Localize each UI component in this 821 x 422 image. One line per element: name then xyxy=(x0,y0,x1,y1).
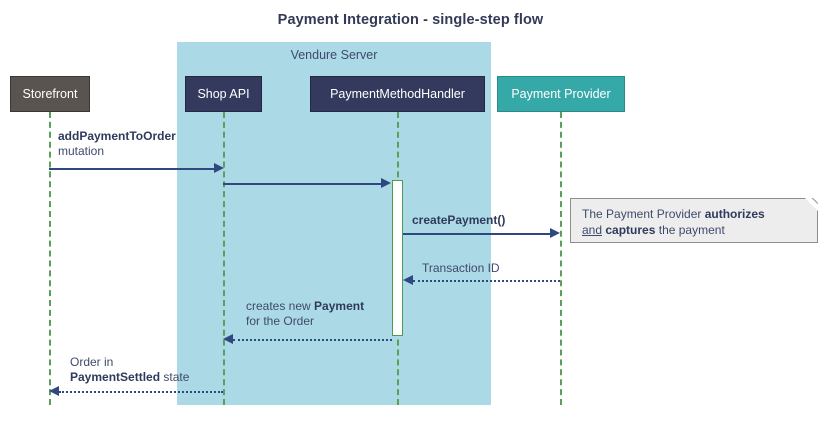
participant-shop-api-label: Shop API xyxy=(197,87,249,101)
lifeline-payment-provider xyxy=(560,112,562,405)
sequence-diagram-canvas: Payment Integration - single-step flow V… xyxy=(0,0,821,422)
message-label-create-payment-bold: createPayment() xyxy=(412,213,505,227)
arrow-shop-api-to-storefront xyxy=(59,391,223,393)
note-fold-edge-icon xyxy=(800,198,818,216)
activation-bar-handler xyxy=(392,180,403,336)
message-label-creates-bold: Payment xyxy=(314,299,364,313)
message-label-order-payment-settled: Order in PaymentSettled state xyxy=(70,355,189,384)
message-label-add-payment-to-order-sub: mutation xyxy=(58,144,104,158)
arrow-provider-to-handler xyxy=(413,280,560,282)
message-label-creates-new-payment: creates new Payment for the Order xyxy=(246,299,364,328)
arrow-head-provider-to-handler xyxy=(403,275,413,285)
arrow-head-shop-api-to-handler xyxy=(381,178,391,188)
page-title: Payment Integration - single-step flow xyxy=(0,12,821,28)
message-label-add-payment-to-order-bold: addPaymentToOrder xyxy=(58,129,176,143)
arrow-head-storefront-to-shop-api xyxy=(214,163,224,173)
arrow-handler-to-provider xyxy=(403,233,550,235)
participant-provider-label: Payment Provider xyxy=(511,87,610,101)
message-label-creates-sub: for the Order xyxy=(246,314,314,328)
participant-shop-api[interactable]: Shop API xyxy=(185,76,262,112)
message-label-order-in: Order in xyxy=(70,355,113,369)
message-label-creates-prefix: creates new xyxy=(246,299,314,313)
lifeline-storefront xyxy=(49,112,51,405)
note-text-bold-captures: captures xyxy=(605,223,655,237)
participant-storefront[interactable]: Storefront xyxy=(10,76,90,112)
participant-payment-provider[interactable]: Payment Provider xyxy=(497,76,625,112)
note-text-bold-authorizes: authorizes xyxy=(705,207,765,221)
message-label-create-payment: createPayment() xyxy=(412,213,505,228)
arrow-shop-api-to-handler xyxy=(223,183,387,185)
note-text-part1: The Payment Provider xyxy=(582,207,705,221)
arrow-head-shop-api-to-storefront xyxy=(49,386,59,396)
message-label-state-suffix: state xyxy=(160,370,189,384)
arrow-head-handler-to-provider xyxy=(550,228,560,238)
message-label-transaction-id: Transaction ID xyxy=(422,261,500,276)
note-text-underline-and: and xyxy=(582,223,602,237)
lifeline-shop-api xyxy=(223,112,225,405)
arrow-head-handler-to-shop-api xyxy=(223,334,233,344)
message-label-transaction-id-text: Transaction ID xyxy=(422,261,500,275)
participant-handler-label: PaymentMethodHandler xyxy=(330,87,465,101)
arrow-handler-to-shop-api xyxy=(233,339,392,341)
message-label-payment-settled-bold: PaymentSettled xyxy=(70,370,160,384)
arrow-storefront-to-shop-api xyxy=(49,168,214,170)
note-text-part2: the payment xyxy=(655,223,724,237)
note-payment-provider: The Payment Provider authorizes and capt… xyxy=(570,198,818,243)
participant-payment-method-handler[interactable]: PaymentMethodHandler xyxy=(310,76,485,112)
message-label-add-payment-to-order: addPaymentToOrder mutation xyxy=(58,129,176,158)
participant-storefront-label: Storefront xyxy=(23,87,78,101)
group-label-vendure-server: Vendure Server xyxy=(177,48,491,62)
